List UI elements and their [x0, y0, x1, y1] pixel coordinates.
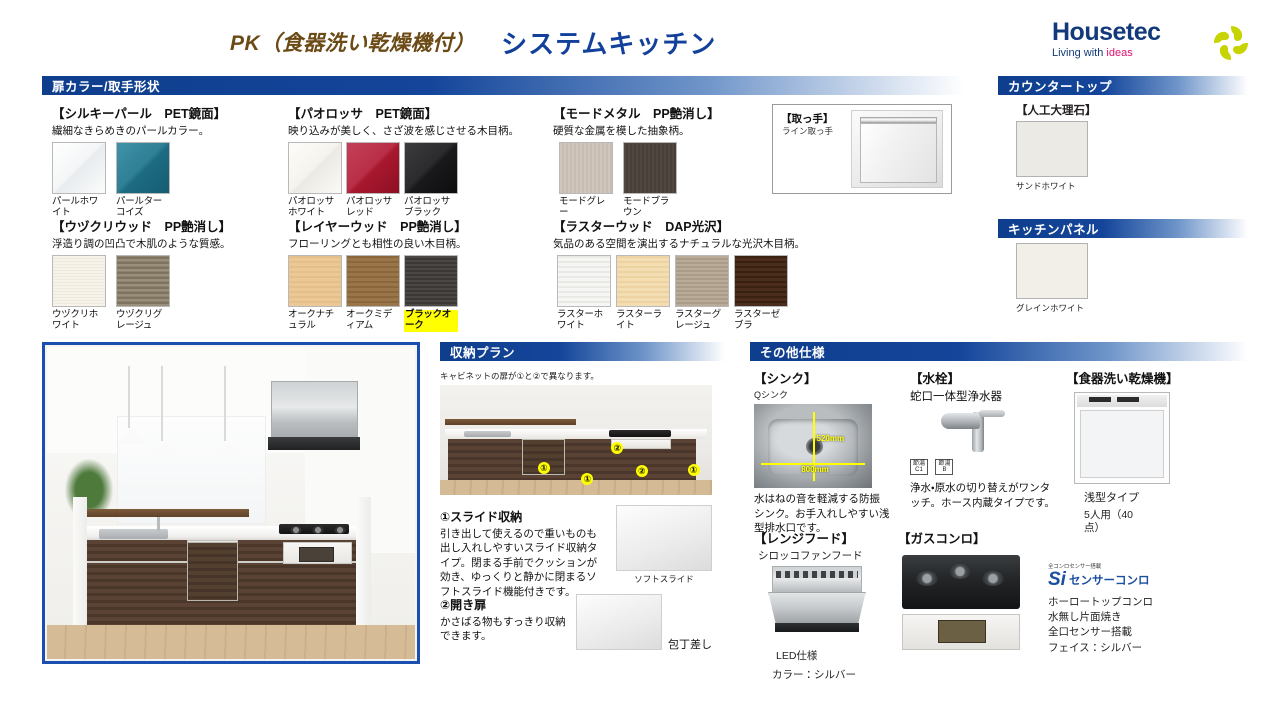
group-title: 【パオロッサ PET鏡面】	[288, 103, 519, 122]
dishwasher-type: 浅型タイプ	[1084, 489, 1251, 505]
faucet-image	[934, 406, 1020, 476]
section-bar-storage-plan: 収納プラン	[440, 342, 725, 361]
burner	[916, 571, 938, 586]
section-bar-other-specs: その他仕様	[750, 342, 1248, 361]
spec-title: 【シンク】	[754, 368, 894, 387]
swatch[interactable]: オークナチュラル	[288, 255, 342, 333]
spec-title: 【水栓】	[910, 368, 1060, 387]
swatch[interactable]: オークミディアム	[346, 255, 400, 333]
si-sensor-logo: Si センサーコンロ	[1048, 570, 1248, 589]
swatch-label: ラスターグレージュ	[675, 310, 721, 332]
swatch-chip[interactable]	[404, 142, 458, 194]
page-title: PK（食器洗い乾燥機付） システムキッチン	[230, 20, 750, 64]
range-hood-image	[766, 566, 870, 644]
callout-marker: ①	[688, 464, 700, 476]
thumb-caption: 包丁差し	[668, 636, 712, 652]
swatch-chip[interactable]	[675, 255, 729, 307]
storage-item-door: ②開き扉 かさばる物もすっきり収納できます。	[440, 596, 570, 644]
swatch[interactable]: ラスターグレージュ	[675, 255, 729, 332]
swatch-label: ウヅクリホワイト	[52, 310, 106, 332]
gas-stove-shape	[609, 430, 672, 437]
swatch-label-highlighted: ブラックオーク	[404, 310, 458, 332]
main-kitchen-photo	[42, 342, 420, 664]
range-hood-lip	[268, 437, 360, 449]
burner	[290, 526, 302, 534]
kitchen-panel-swatch-chip[interactable]	[1016, 243, 1088, 299]
swatch-chip[interactable]	[623, 142, 677, 194]
swatch-chip[interactable]	[116, 255, 170, 307]
spec-subtitle: 蛇口一体型浄水器	[910, 388, 1060, 404]
swatch-chip[interactable]	[52, 142, 106, 194]
si-sensor-block: 全コンロセンサー搭載 Si センサーコンロ ホーロートップコンロ 水無し片面焼き…	[1048, 562, 1248, 656]
swatch-selected[interactable]: ブラックオーク	[404, 255, 458, 333]
dishwasher-door	[1080, 410, 1164, 478]
group-desc: 繊細なきらめきのパールカラー。	[52, 123, 226, 138]
storage-thumb-knife	[576, 594, 662, 650]
countertop-swatch-chip[interactable]	[1016, 121, 1088, 177]
storage-item-title: ②開き扉	[440, 596, 570, 613]
spec-faucet: 【水栓】 蛇口一体型浄水器 節湯 C1 節湯 B 浄水・原水の切り替えがワンタッ…	[910, 368, 1060, 510]
title-main: システムキッチン	[501, 24, 716, 61]
catalog-page: PK（食器洗い乾燥機付） システムキッチン Housetec Living wi…	[0, 0, 1280, 720]
sink-image: 520mm 800mm	[754, 404, 872, 488]
section-bar-label: キッチンパネル	[1008, 219, 1099, 238]
spec-dishwasher: 【食器洗い乾燥機】 浅型タイプ 5人用（40点）	[1066, 368, 1251, 535]
si-mark: Si	[1048, 570, 1066, 589]
stove-spec-2: 水無し片面焼き	[1048, 610, 1248, 625]
counter-bar-top	[445, 419, 576, 425]
swatch-chip[interactable]	[288, 255, 342, 307]
swatch-chip[interactable]	[346, 142, 400, 194]
stove-control-panel-image	[902, 614, 1020, 650]
stove-spec-list: ホーロートップコンロ 水無し片面焼き 全口センサー搭載 フェイス：シルバー	[1048, 595, 1248, 656]
dishwasher-button	[1089, 397, 1111, 402]
burner	[982, 571, 1004, 586]
swatch[interactable]: ラスターゼブラ	[734, 255, 788, 332]
storage-thumb-slide: ソフトスライド	[616, 505, 712, 585]
faucet-shape	[157, 517, 160, 531]
swatch[interactable]: ラスターホワイト	[557, 255, 611, 332]
swatch[interactable]: パールターコイズ	[116, 142, 170, 219]
storage-item-text: 引き出して使えるので重いものも出し入れしやすいスライド収納タイプ。閉まる手前でク…	[440, 527, 606, 599]
hood-vent-grille	[776, 571, 857, 579]
swatch-chip[interactable]	[404, 255, 458, 307]
spec-subtitle: シロッコファンフード	[758, 548, 904, 563]
swatch-chip[interactable]	[557, 255, 611, 307]
housetec-logo: Housetec Living with ideas	[1052, 20, 1252, 66]
section-bar-countertop: カウンタートップ	[998, 76, 1248, 95]
pendant-cord	[224, 366, 226, 441]
title-model: PK（食器洗い乾燥機付）	[230, 27, 475, 57]
floor	[440, 480, 712, 495]
group-desc: 気品のある空間を演出するナチュラルな光沢木目柄。	[553, 236, 805, 251]
handle-illustration	[851, 110, 943, 188]
section-bar-label: 収納プラン	[450, 342, 515, 361]
group-desc: 浮造り調の凹凸で木肌のような質感。	[52, 236, 231, 251]
swatch[interactable]: パオロッサホワイト	[288, 142, 342, 219]
dishwasher-image	[1074, 392, 1170, 484]
pillar-right	[356, 497, 371, 634]
dishwasher-button	[1117, 397, 1139, 402]
swatch[interactable]: ウヅクリホワイト	[52, 255, 106, 332]
countertop-panel: 【人工大理石】 サンドホワイト	[998, 96, 1248, 192]
swatch-group-luster-wood: 【ラスターウッド DAP光沢】 気品のある空間を演出するナチュラルな光沢木目柄。…	[553, 216, 805, 332]
swatch[interactable]: パールホワイト	[52, 142, 106, 219]
swatch-chip[interactable]	[116, 142, 170, 194]
swatch[interactable]: パオロッサブラック	[404, 142, 458, 219]
eco-badge-c1: 節湯 C1	[910, 459, 928, 476]
group-title: 【シルキーパール PET鏡面】	[52, 103, 226, 122]
counter-bar-top	[73, 509, 250, 516]
swatch-label: ラスターライト	[616, 310, 670, 332]
group-title: 【ウヅクリウッド PP艶消し】	[52, 216, 231, 235]
kitchen-panel-panel: グレインホワイト	[998, 243, 1248, 314]
swatch-label: ラスターゼブラ	[734, 310, 788, 332]
storage-item-text: かさばる物もすっきり収納できます。	[440, 615, 570, 644]
hood-base	[775, 623, 858, 632]
swatch[interactable]: モードグレー	[559, 142, 613, 219]
swatch-label: オークナチュラル	[288, 310, 342, 332]
section-bar-label: 扉カラー/取手形状	[52, 76, 160, 95]
dishwasher-front	[187, 542, 239, 601]
swatch-chip[interactable]	[52, 255, 106, 307]
storage-item-title: ①スライド収納	[440, 508, 606, 525]
line-handle-shape	[860, 117, 937, 123]
section-bar-label: カウンタートップ	[1008, 76, 1112, 95]
pinwheel-icon	[1210, 22, 1252, 64]
si-logo-text: センサーコンロ	[1069, 572, 1150, 588]
swatch-group-layer-wood: 【レイヤーウッド PP艶消し】 フローリングとも相性の良い木目柄。 オークナチュ…	[288, 216, 467, 333]
photo-scene	[47, 347, 415, 659]
group-desc: 映り込みが美しく、さざ波を感じさせる木目柄。	[288, 123, 519, 138]
hood-body	[768, 592, 866, 625]
group-title: 【ラスターウッド DAP光沢】	[553, 216, 805, 235]
faucet-spout	[941, 413, 981, 429]
spec-title: 【ガスコンロ】	[898, 528, 1033, 547]
sink-shape	[464, 431, 510, 437]
swatch-group-uzukuri-wood: 【ウヅクリウッド PP艶消し】 浮造り調の凹凸で木肌のような質感。 ウヅクリホワ…	[52, 216, 231, 332]
spec-sink: 【シンク】 Qシンク 520mm 800mm 水はねの音を軽減する防振シンク。お…	[754, 368, 894, 536]
spec-text: 浄水・原水の切り替えがワンタッチ。ホース内蔵タイプです。	[910, 481, 1056, 510]
callout-marker: ①	[538, 462, 550, 474]
hood-spec-led: LED仕様	[776, 648, 904, 663]
grill-window	[938, 620, 986, 643]
floor	[47, 625, 415, 659]
window	[117, 416, 266, 524]
hood-spec-color: カラー：シルバー	[772, 667, 904, 682]
spec-subtitle: Qシンク	[754, 388, 894, 401]
handle-box: 【取っ手】 ライン取っ手	[772, 104, 952, 194]
door-panel-shape	[860, 123, 937, 183]
swatch[interactable]: モードブラウン	[623, 142, 677, 219]
swatch-label: オークミディアム	[346, 310, 400, 332]
si-sensor-tagline: 全コンロセンサー搭載	[1048, 562, 1248, 570]
handle-title: 【取っ手】	[781, 111, 834, 126]
storage-plan-photo: ① ② ① ① ②	[440, 385, 712, 495]
dimension-label-width: 800mm	[801, 465, 829, 474]
spec-gas-stove: 【ガスコンロ】	[898, 528, 1033, 650]
dimension-label-depth: 520mm	[817, 434, 845, 443]
stove-spec-3: 全口センサー搭載	[1048, 625, 1248, 640]
swatch-group-paolossa: 【パオロッサ PET鏡面】 映り込みが美しく、さざ波を感じさせる木目柄。 パオロ…	[288, 103, 519, 219]
dishwasher-capacity: 5人用（40点）	[1084, 509, 1140, 535]
stove-spec-1: ホーロートップコンロ	[1048, 595, 1248, 610]
soft-slide-image	[616, 505, 712, 571]
knife-holder-caption-wrap: 包丁差し	[668, 636, 712, 652]
gas-stove-image	[902, 555, 1020, 609]
swatch-chip[interactable]	[616, 255, 670, 307]
pendant-cord	[128, 366, 130, 428]
section-bar-kitchen-panel: キッチンパネル	[998, 219, 1248, 238]
burner	[312, 526, 324, 534]
faucet-lever	[979, 410, 1005, 417]
swatch[interactable]: ラスターライト	[616, 255, 670, 332]
grill-window	[299, 547, 334, 562]
spec-title: 【レンジフード】	[754, 528, 904, 547]
pillar-left	[73, 497, 88, 634]
swatch-group-silky-pearl: 【シルキーパール PET鏡面】 繊細なきらめきのパールカラー。 パールホワイト …	[52, 103, 226, 219]
swatch-chip[interactable]	[559, 142, 613, 194]
spec-title: 【食器洗い乾燥機】	[1066, 368, 1251, 387]
swatch[interactable]: ウヅクリグレージュ	[116, 255, 170, 332]
swatch-label: ラスターホワイト	[557, 310, 611, 332]
group-desc: フローリングとも相性の良い木目柄。	[288, 236, 467, 251]
kitchen-panel-swatch-label: グレインホワイト	[1016, 302, 1248, 314]
storage-note: キャビネットの扉が①と②で異なります。	[440, 370, 599, 382]
stove-spec-4: フェイス：シルバー	[1048, 641, 1248, 656]
section-bar-door-color: 扉カラー/取手形状	[42, 76, 964, 95]
swatch[interactable]: パオロッサレッド	[346, 142, 400, 219]
section-bar-label: その他仕様	[760, 342, 825, 361]
group-title: 【モードメタル PP艶消し】	[553, 103, 720, 122]
storage-item-slide: ①スライド収納 引き出して使えるので重いものも出し入れしやすいスライド収納タイプ…	[440, 508, 606, 599]
pendant-cord	[161, 366, 163, 441]
countertop-swatch-label: サンドホワイト	[1016, 180, 1248, 192]
knife-holder-image	[576, 594, 662, 650]
swatch-group-mode-metal: 【モードメタル PP艶消し】 硬質な金属を模した抽象柄。 モードグレー モードブ…	[553, 103, 720, 219]
swatch-label: ウヅクリグレージュ	[116, 310, 170, 332]
countertop-title: 【人工大理石】	[1016, 102, 1248, 118]
swatch-chip[interactable]	[288, 142, 342, 194]
group-desc: 硬質な金属を模した抽象柄。	[553, 123, 720, 138]
group-title: 【レイヤーウッド PP艶消し】	[288, 216, 467, 235]
burner	[949, 564, 971, 579]
thumb-caption: ソフトスライド	[616, 573, 712, 585]
swatch-chip[interactable]	[734, 255, 788, 307]
handle-sub: ライン取っ手	[782, 125, 833, 137]
swatch-chip[interactable]	[346, 255, 400, 307]
spec-range-hood: 【レンジフード】 シロッコファンフード LED仕様 カラー：シルバー	[754, 528, 904, 682]
